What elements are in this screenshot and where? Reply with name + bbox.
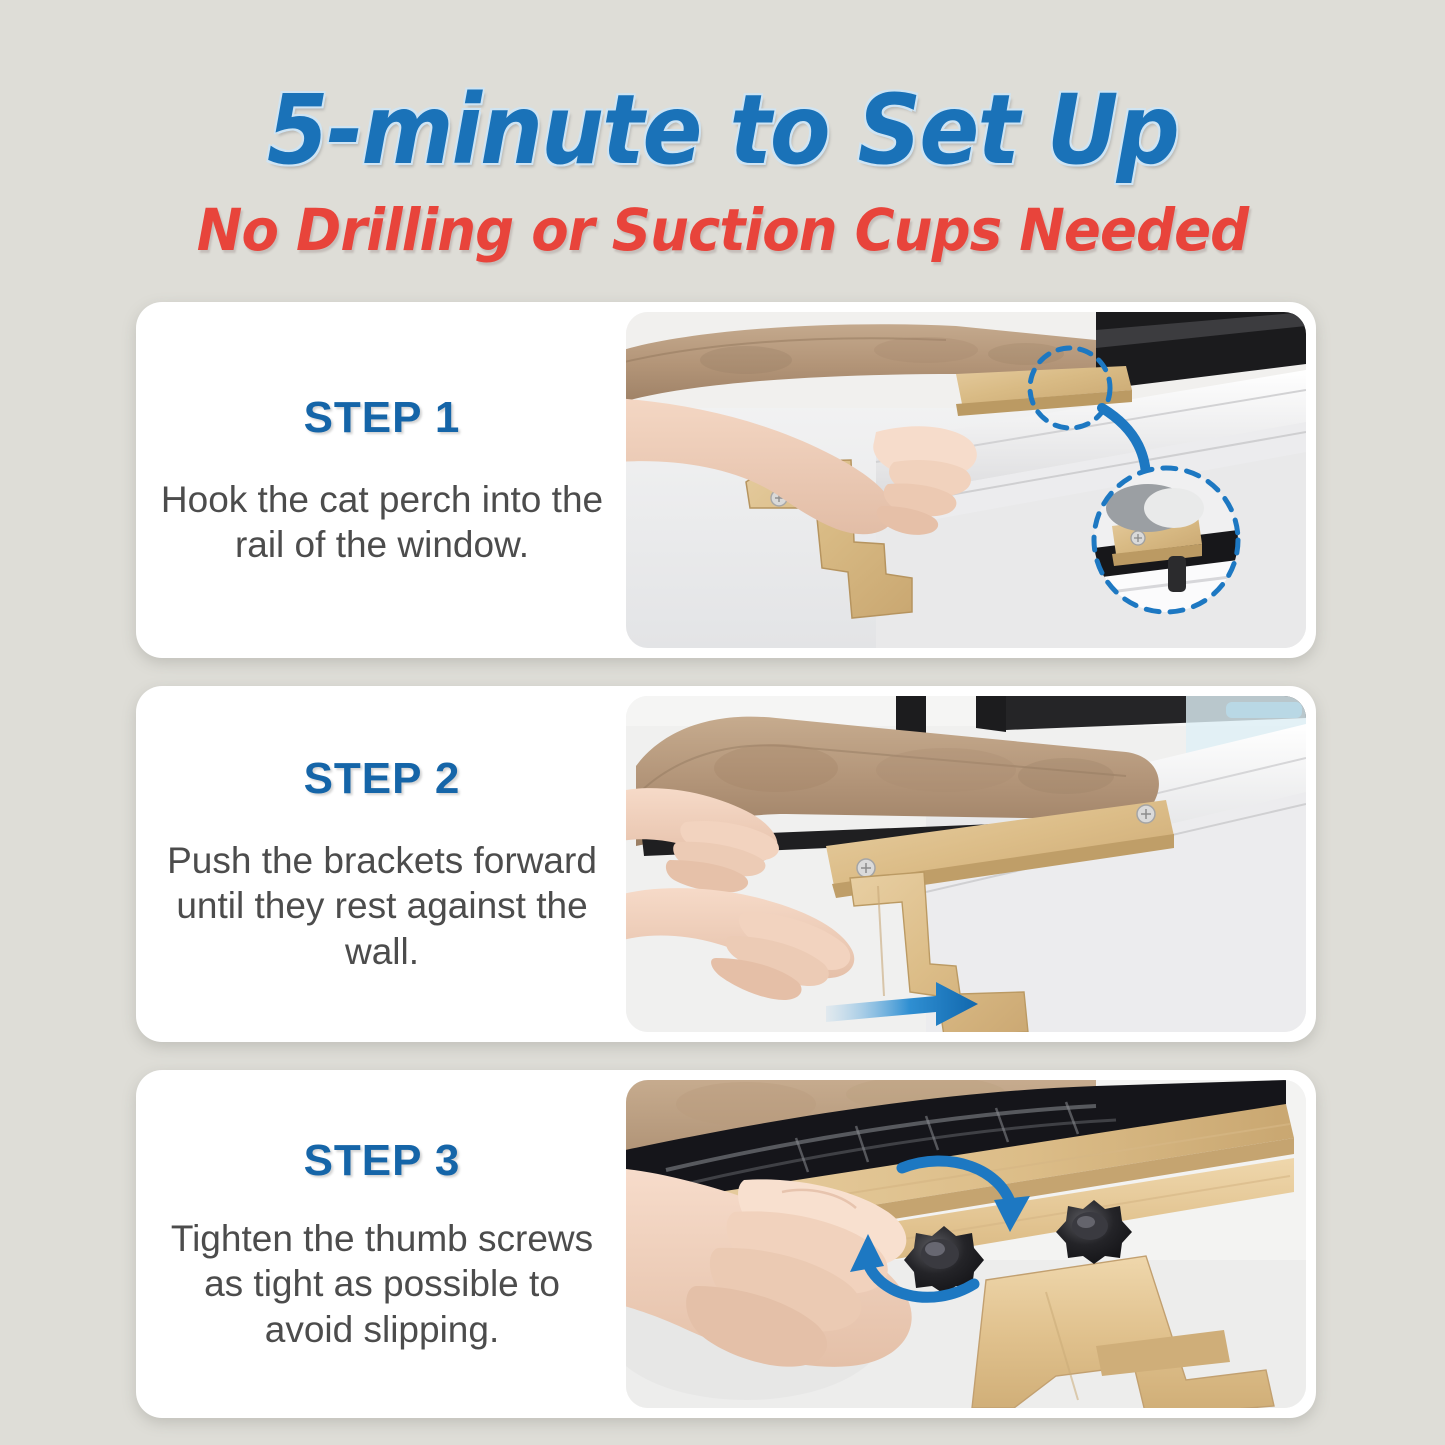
step-1-title: STEP 1 [304,393,461,443]
header: 5-minute to Set Up No Drilling or Suctio… [0,0,1445,300]
step-1-illustration [626,312,1306,648]
step-3-text-block: STEP 3 Tighten the thumb screws as tight… [136,1070,628,1418]
step-1-photo [626,312,1306,648]
step-3-title: STEP 3 [304,1136,461,1186]
step-2-title: STEP 2 [304,754,461,804]
zoom-detail-circle [1094,468,1238,612]
step-2-text-block: STEP 2 Push the brackets forward until t… [136,686,628,1042]
step-3-photo [626,1080,1306,1408]
step-1-text-block: STEP 1 Hook the cat perch into the rail … [136,302,628,658]
page-title: 5-minute to Set Up [58,74,1387,186]
step-2-photo [626,696,1306,1032]
step-2-illustration [626,696,1306,1032]
step-1-description: Hook the cat perch into the rail of the … [157,477,607,567]
page-subtitle: No Drilling or Suction Cups Needed [43,196,1401,264]
step-3-description: Tighten the thumb screws as tight as pos… [157,1216,607,1351]
step-card-3: STEP 3 Tighten the thumb screws as tight… [136,1070,1316,1418]
step-card-1: STEP 1 Hook the cat perch into the rail … [136,302,1316,658]
step-2-description: Push the brackets forward until they res… [157,838,607,973]
step-card-2: STEP 2 Push the brackets forward until t… [136,686,1316,1042]
step-3-illustration [626,1080,1306,1408]
